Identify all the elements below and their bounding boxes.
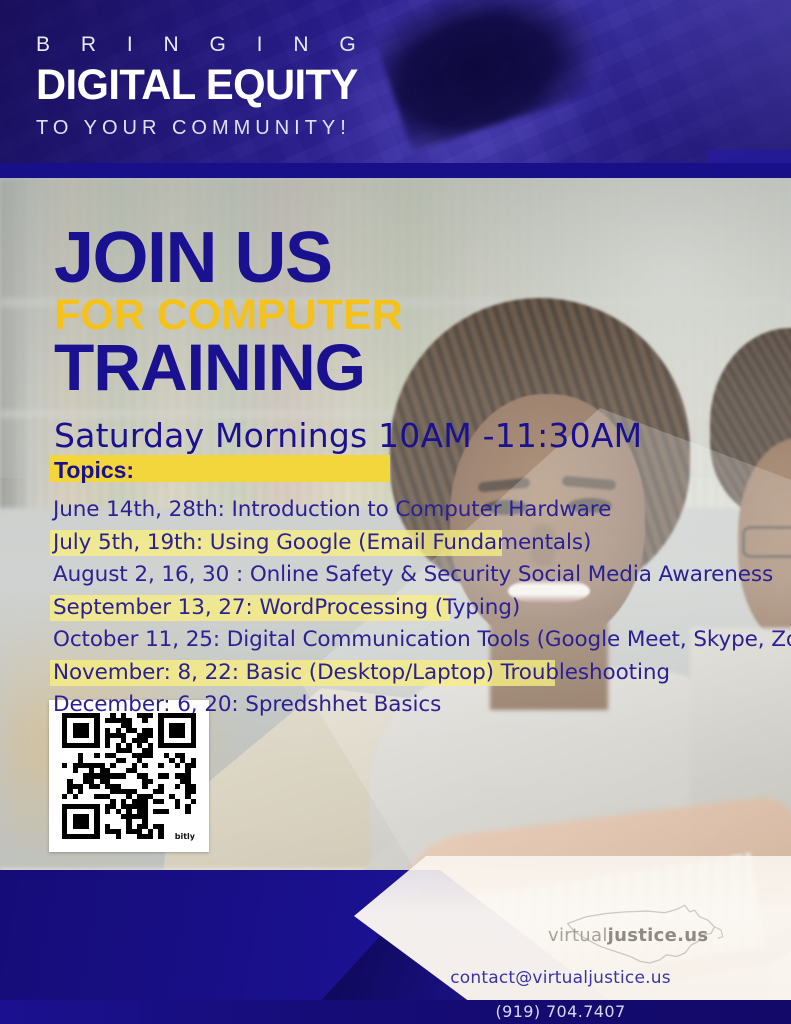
topic-item-label: September 13, 27: WordProcessing (Typing… [53,595,520,620]
header-text-block: B R I N G I N G DIGITAL EQUITY TO YOUR C… [36,34,536,138]
topic-item: September 13, 27: WordProcessing (Typing… [50,592,750,625]
topic-item: June 14th, 28th: Introduction to Compute… [50,494,750,527]
topic-item-label: December: 6, 20: Spredshhet Basics [53,692,441,717]
topic-item-label: October 11, 25: Digital Communication To… [53,627,791,652]
topics-section: Topics: June 14th, 28th: Introduction to… [50,455,750,722]
watermark-prefix: virtual [548,925,608,946]
header-banner: B R I N G I N G DIGITAL EQUITY TO YOUR C… [0,0,791,166]
topic-item-label: July 5th, 19th: Using Google (Email Fund… [53,530,591,555]
topic-item: November: 8, 22: Basic (Desktop/Laptop) … [50,657,750,690]
header-title: DIGITAL EQUITY [36,64,521,107]
headline-training: TRAINING [54,336,674,399]
watermark-suffix: justice.us [608,925,709,946]
topics-heading-label: Topics: [54,457,134,483]
topic-item-label: August 2, 16, 30 : Online Safety & Secur… [53,562,773,587]
contact-phone[interactable]: (919) 704.7407 [330,1002,791,1021]
qr-brand-label: bitly [175,832,195,841]
topic-item: October 11, 25: Digital Communication To… [50,624,750,657]
contact-email[interactable]: contact@virtualjustice.us [330,968,791,988]
headline-join-us: JOIN US [54,226,674,291]
schedule-text: Saturday Mornings 10AM -11:30AM [54,416,674,455]
topic-item: December: 6, 20: Spredshhet Basics [50,689,750,722]
watermark-text: virtualjustice.us [548,925,768,946]
flyer-canvas: B R I N G I N G DIGITAL EQUITY TO YOUR C… [0,0,791,1024]
header-subtitle: TO YOUR COMMUNITY! [36,118,536,138]
topics-list: June 14th, 28th: Introduction to Compute… [50,494,750,722]
topic-item: August 2, 16, 30 : Online Safety & Secur… [50,559,750,592]
headline-block: JOIN US FOR COMPUTER TRAINING Saturday M… [54,226,674,455]
qr-code-matrix [62,713,196,839]
topics-heading: Topics: [50,455,136,487]
topic-item-label: November: 8, 22: Basic (Desktop/Laptop) … [53,660,670,685]
header-eyebrow: B R I N G I N G [36,34,536,55]
topic-item-label: June 14th, 28th: Introduction to Compute… [53,497,611,522]
topic-item: July 5th, 19th: Using Google (Email Fund… [50,527,750,560]
qr-code[interactable]: bitly [49,700,209,852]
